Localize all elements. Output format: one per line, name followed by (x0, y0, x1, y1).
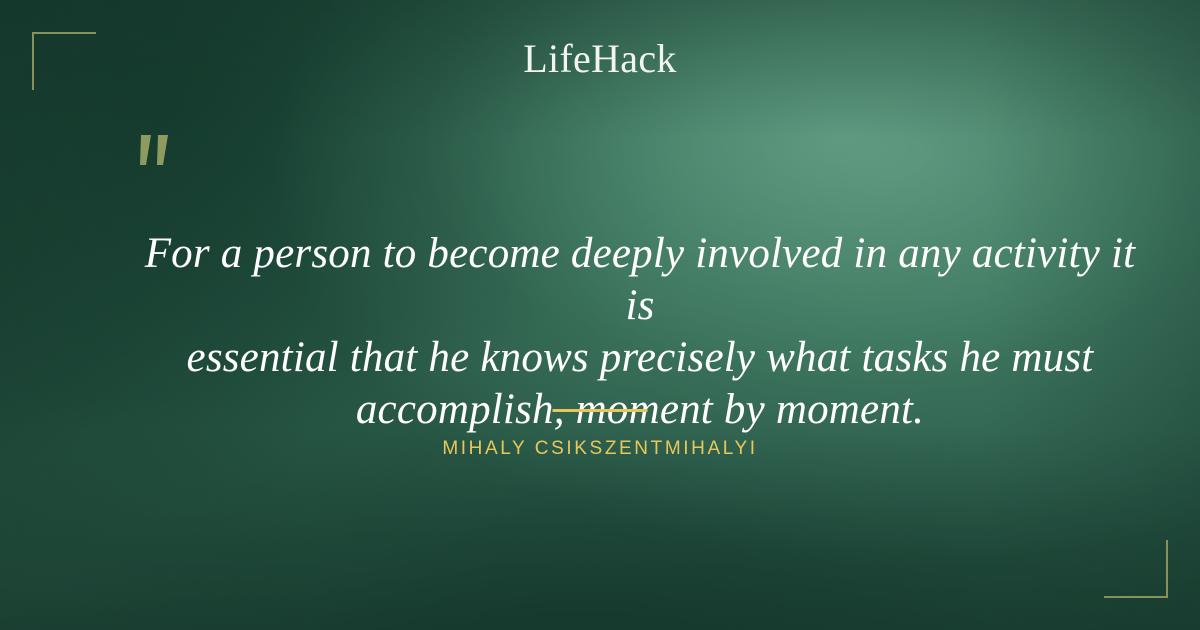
quote-text-block: For a person to become deeply involved i… (140, 228, 1140, 436)
author-name: MIHALY CSIKSZENTMIHALYI (0, 438, 1200, 460)
brand-logo: LifeHack (0, 37, 1200, 81)
quotation-mark-icon (131, 131, 191, 191)
corner-bracket-bottom-right-icon (1104, 540, 1168, 598)
quote-line: essential that he knows precisely what t… (140, 332, 1140, 384)
author-divider (553, 409, 648, 412)
quote-text: For a person to become deeply involved i… (140, 228, 1140, 436)
quote-line: For a person to become deeply involved i… (140, 228, 1140, 332)
brand-logo-text: LifeHack (523, 36, 676, 81)
quote-card: LifeHack For a person to become deeply i… (0, 0, 1200, 630)
